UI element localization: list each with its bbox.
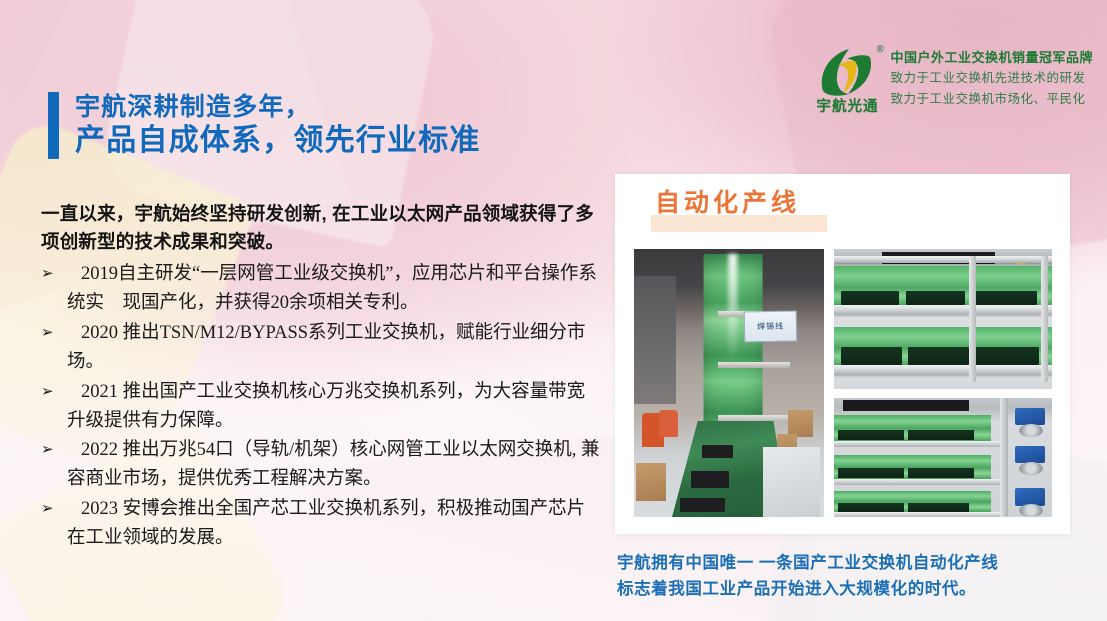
milestone-list: ➢ 2019自主研发“一层网管工业级交换机”，应用芯片和平台操作系统实 现国产化… bbox=[41, 260, 601, 553]
slide-title: 宇航深耕制造多年， 产品自成体系，领先行业标准 bbox=[48, 92, 481, 159]
title-accent-bar bbox=[48, 92, 59, 159]
lead-paragraph: 一直以来，宇航始终坚持研发创新, 在工业以太网产品领域获得了多项创新型的技术成果… bbox=[41, 200, 601, 256]
registered-mark-icon: ® bbox=[876, 44, 883, 55]
list-item: ➢ 2019自主研发“一层网管工业级交换机”，应用芯片和平台操作系统实 现国产化… bbox=[41, 260, 601, 318]
photo-caption: 宇航拥有中国唯一 一条国产工业交换机自动化产线 标志着我国工业产品开始进入大规模… bbox=[617, 550, 1087, 602]
list-item: ➢ 2020 推出TSN/M12/BYPASS系列工业交换机，赋能行业细分市场。 bbox=[41, 319, 601, 377]
list-item-text: 2019自主研发“一层网管工业级交换机”，应用芯片和平台操作系统实 现国产化，并… bbox=[67, 260, 601, 318]
title-lines: 宇航深耕制造多年， 产品自成体系，领先行业标准 bbox=[75, 92, 481, 159]
photo-right-column bbox=[834, 249, 1052, 517]
logo-taglines: ® 中国户外工业交换机销量冠军品牌 致力于工业交换机先进技术的研发 致力于工业交… bbox=[890, 48, 1093, 107]
company-logo: 宇航光通 ® 中国户外工业交换机销量冠军品牌 致力于工业交换机先进技术的研发 致… bbox=[813, 40, 1093, 114]
title-line-1: 宇航深耕制造多年， bbox=[75, 92, 481, 123]
body-content: 一直以来，宇航始终坚持研发创新, 在工业以太网产品领域获得了多项创新型的技术成果… bbox=[41, 200, 601, 554]
arrow-bullet-icon: ➢ bbox=[41, 378, 57, 404]
photo-card-heading: 自动化产线 bbox=[655, 190, 800, 218]
heading-highlight-bar bbox=[651, 215, 827, 232]
soldering-line-photo: 焊锡线 bbox=[634, 249, 824, 517]
heading-text: 自动化产线 bbox=[655, 190, 800, 218]
caption-line-2: 标志着我国工业产品开始进入大规模化的时代。 bbox=[617, 576, 1087, 602]
list-item-text: 2022 推出万兆54口（导轨/机架）核心网管工业以太网交换机, 兼容商业市场，… bbox=[67, 436, 601, 494]
logo-tagline-3: 致力于工业交换机市场化、平民化 bbox=[890, 93, 1093, 107]
list-item: ➢ 2023 安博会推出全国产芯工业交换机系列，积极推动国产芯片在工业领域的发展… bbox=[41, 495, 601, 553]
logo-tagline-1: 中国户外工业交换机销量冠军品牌 bbox=[890, 51, 1093, 65]
list-item: ➢ 2021 推出国产工业交换机核心万兆交换机系列，为大容量带宽升级提供有力保障… bbox=[41, 378, 601, 436]
title-line-2: 产品自成体系，领先行业标准 bbox=[75, 123, 481, 159]
yuhang-leaf-logo-icon: 宇航光通 bbox=[813, 40, 881, 114]
motor-drive-photo bbox=[834, 398, 1052, 517]
photo-grid: 焊锡线 bbox=[634, 249, 1052, 517]
photo-card: 自动化产线 焊锡线 bbox=[615, 174, 1070, 534]
logo-tagline-2: 致力于工业交换机先进技术的研发 bbox=[890, 72, 1093, 86]
list-item: ➢ 2022 推出万兆54口（导轨/机架）核心网管工业以太网交换机, 兼容商业市… bbox=[41, 436, 601, 494]
list-item-text: 2021 推出国产工业交换机核心万兆交换机系列，为大容量带宽升级提供有力保障。 bbox=[67, 378, 601, 436]
conveyor-pcb-photo bbox=[834, 249, 1052, 389]
list-item-text: 2020 推出TSN/M12/BYPASS系列工业交换机，赋能行业细分市场。 bbox=[67, 319, 601, 377]
list-item-text: 2023 安博会推出全国产芯工业交换机系列，积极推动国产芯片在工业领域的发展。 bbox=[67, 495, 601, 553]
arrow-bullet-icon: ➢ bbox=[41, 495, 57, 521]
soldering-line-sign: 焊锡线 bbox=[744, 310, 798, 342]
caption-line-1: 宇航拥有中国唯一 一条国产工业交换机自动化产线 bbox=[617, 550, 1087, 576]
arrow-bullet-icon: ➢ bbox=[41, 319, 57, 345]
arrow-bullet-icon: ➢ bbox=[41, 260, 57, 286]
arrow-bullet-icon: ➢ bbox=[41, 436, 57, 462]
slide-root: 宇航光通 ® 中国户外工业交换机销量冠军品牌 致力于工业交换机先进技术的研发 致… bbox=[0, 0, 1107, 621]
logo-wordmark: 宇航光通 bbox=[816, 100, 878, 115]
